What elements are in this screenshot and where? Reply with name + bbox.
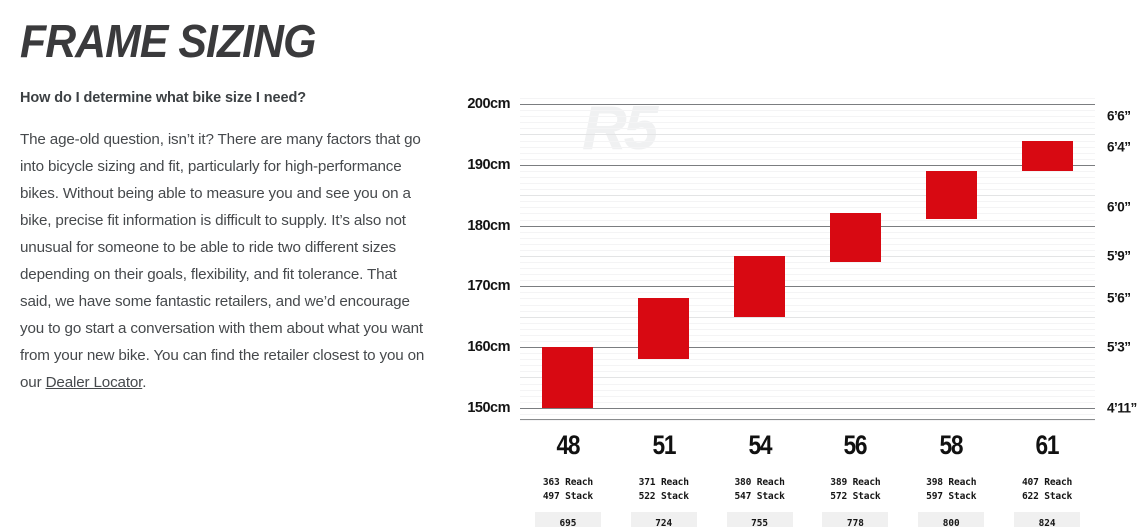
gridline	[520, 347, 1095, 348]
gridline	[520, 365, 1095, 366]
gridline	[520, 353, 1095, 354]
gridline	[520, 390, 1095, 391]
stack-value: 622 Stack	[999, 490, 1095, 504]
y-axis-left-tick-160: 160cm	[467, 339, 510, 355]
gridline	[520, 329, 1095, 330]
y-axis-left-tick-200: 200cm	[467, 96, 510, 112]
standover-value: 800	[920, 517, 982, 527]
size-column-61[interactable]: 61407 Reach622 Stack824Standover	[999, 432, 1095, 527]
size-column-56[interactable]: 56389 Reach572 Stack778Standover	[807, 432, 903, 527]
gridline	[520, 298, 1095, 299]
gridline	[520, 171, 1095, 172]
gridline	[520, 232, 1095, 233]
gridline	[520, 195, 1095, 196]
standover-value: 695	[537, 517, 599, 527]
bar-size-61[interactable]	[1022, 141, 1073, 171]
size-column-54[interactable]: 54380 Reach547 Stack755Standover	[712, 432, 808, 527]
gridline	[520, 377, 1095, 378]
gridline	[520, 256, 1095, 257]
gridline	[520, 122, 1095, 123]
size-number: 58	[911, 432, 991, 459]
gridline	[520, 244, 1095, 245]
gridline	[520, 311, 1095, 312]
gridline	[520, 159, 1095, 160]
gridline	[520, 280, 1095, 281]
standover-box: 824Standover	[1014, 512, 1080, 527]
y-axis-left-tick-180: 180cm	[467, 218, 510, 234]
gridline	[520, 323, 1095, 324]
size-number: 61	[1007, 432, 1087, 459]
standover-value: 755	[729, 517, 791, 527]
stack-value: 572 Stack	[807, 490, 903, 504]
y-axis-right-tick: 6’0”	[1107, 200, 1131, 215]
gridline	[520, 147, 1095, 148]
reach-value: 389 Reach	[807, 476, 903, 490]
gridline	[520, 250, 1095, 251]
gridline	[520, 262, 1095, 263]
standover-value: 778	[824, 517, 886, 527]
gridline	[520, 414, 1095, 415]
bar-size-51[interactable]	[638, 298, 689, 359]
bar-size-58[interactable]	[926, 171, 977, 220]
reach-value: 407 Reach	[999, 476, 1095, 490]
y-axis-right-tick: 5’3”	[1107, 340, 1131, 355]
gridline	[520, 341, 1095, 342]
gridline	[520, 371, 1095, 372]
article-body-text-after-link: .	[142, 374, 146, 391]
gridline	[520, 165, 1095, 166]
chart-plot-area: R5 200cm190cm180cm170cm160cm150cm 6’6”6’…	[520, 98, 1095, 420]
gridline	[520, 268, 1095, 269]
gridline	[520, 201, 1095, 202]
gridline	[520, 420, 1095, 421]
reach-value: 380 Reach	[712, 476, 808, 490]
bar-size-54[interactable]	[734, 256, 785, 317]
gridline	[520, 292, 1095, 293]
standover-box: 800Standover	[918, 512, 984, 527]
reach-value: 363 Reach	[520, 476, 616, 490]
bar-size-56[interactable]	[830, 213, 881, 262]
size-column-51[interactable]: 51371 Reach522 Stack724Standover	[616, 432, 712, 527]
gridline	[520, 238, 1095, 239]
standover-box: 724Standover	[631, 512, 697, 527]
article-body: The age-old question, isn’t it? There ar…	[20, 126, 430, 396]
standover-value: 724	[633, 517, 695, 527]
gridline	[520, 220, 1095, 221]
gridline	[520, 408, 1095, 409]
gridline	[520, 396, 1095, 397]
gridline	[520, 153, 1095, 154]
gridline	[520, 335, 1095, 336]
frame-sizing-chart: R5 200cm190cm180cm170cm160cm150cm 6’6”6’…	[455, 60, 1135, 520]
stack-value: 497 Stack	[520, 490, 616, 504]
y-axis-right-tick: 6’4”	[1107, 139, 1131, 154]
size-column-48[interactable]: 48363 Reach497 Stack695Standover	[520, 432, 616, 527]
gridline	[520, 286, 1095, 287]
article-column: FRAME SIZING How do I determine what bik…	[20, 18, 430, 396]
gridline	[520, 141, 1095, 142]
gridline	[520, 305, 1095, 306]
gridline	[520, 226, 1095, 227]
gridline	[520, 134, 1095, 135]
size-number: 51	[623, 432, 703, 459]
chart-baseline	[520, 419, 1095, 420]
reach-value: 371 Reach	[616, 476, 712, 490]
standover-box: 695Standover	[535, 512, 601, 527]
size-spec-columns: 48363 Reach497 Stack695Standover51371 Re…	[520, 432, 1095, 527]
gridline	[520, 98, 1095, 99]
y-axis-left-tick-170: 170cm	[467, 278, 510, 294]
frame-sizing-page: FRAME SIZING How do I determine what bik…	[0, 0, 1147, 527]
article-subheading: How do I determine what bike size I need…	[20, 90, 430, 106]
gridline	[520, 317, 1095, 318]
y-axis-right-tick: 5’9”	[1107, 248, 1131, 263]
gridline	[520, 207, 1095, 208]
y-axis-left-tick-190: 190cm	[467, 157, 510, 173]
stack-value: 597 Stack	[903, 490, 999, 504]
page-title: FRAME SIZING	[20, 18, 401, 64]
size-column-58[interactable]: 58398 Reach597 Stack800Standover	[903, 432, 999, 527]
y-axis-right-tick: 4’11”	[1107, 400, 1137, 415]
y-axis-left-tick-150: 150cm	[467, 400, 510, 416]
size-number: 56	[815, 432, 895, 459]
gridline	[520, 116, 1095, 117]
standover-value: 824	[1016, 517, 1078, 527]
gridline	[520, 189, 1095, 190]
standover-box: 778Standover	[822, 512, 888, 527]
y-axis-right-tick: 5’6”	[1107, 291, 1131, 306]
size-number: 54	[719, 432, 799, 459]
gridline	[520, 402, 1095, 403]
gridline	[520, 128, 1095, 129]
bar-size-48[interactable]	[542, 347, 593, 408]
y-axis-right-tick: 6’6”	[1107, 109, 1131, 124]
standover-box: 755Standover	[727, 512, 793, 527]
stack-value: 547 Stack	[712, 490, 808, 504]
dealer-locator-link[interactable]: Dealer Locator	[46, 374, 143, 391]
gridline	[520, 110, 1095, 111]
article-body-text-before-link: The age-old question, isn’t it? There ar…	[20, 131, 424, 391]
reach-value: 398 Reach	[903, 476, 999, 490]
gridline	[520, 274, 1095, 275]
stack-value: 522 Stack	[616, 490, 712, 504]
gridline	[520, 359, 1095, 360]
size-number: 48	[528, 432, 608, 459]
gridline	[520, 177, 1095, 178]
gridline	[520, 183, 1095, 184]
gridline	[520, 384, 1095, 385]
gridline	[520, 104, 1095, 105]
gridline	[520, 213, 1095, 214]
